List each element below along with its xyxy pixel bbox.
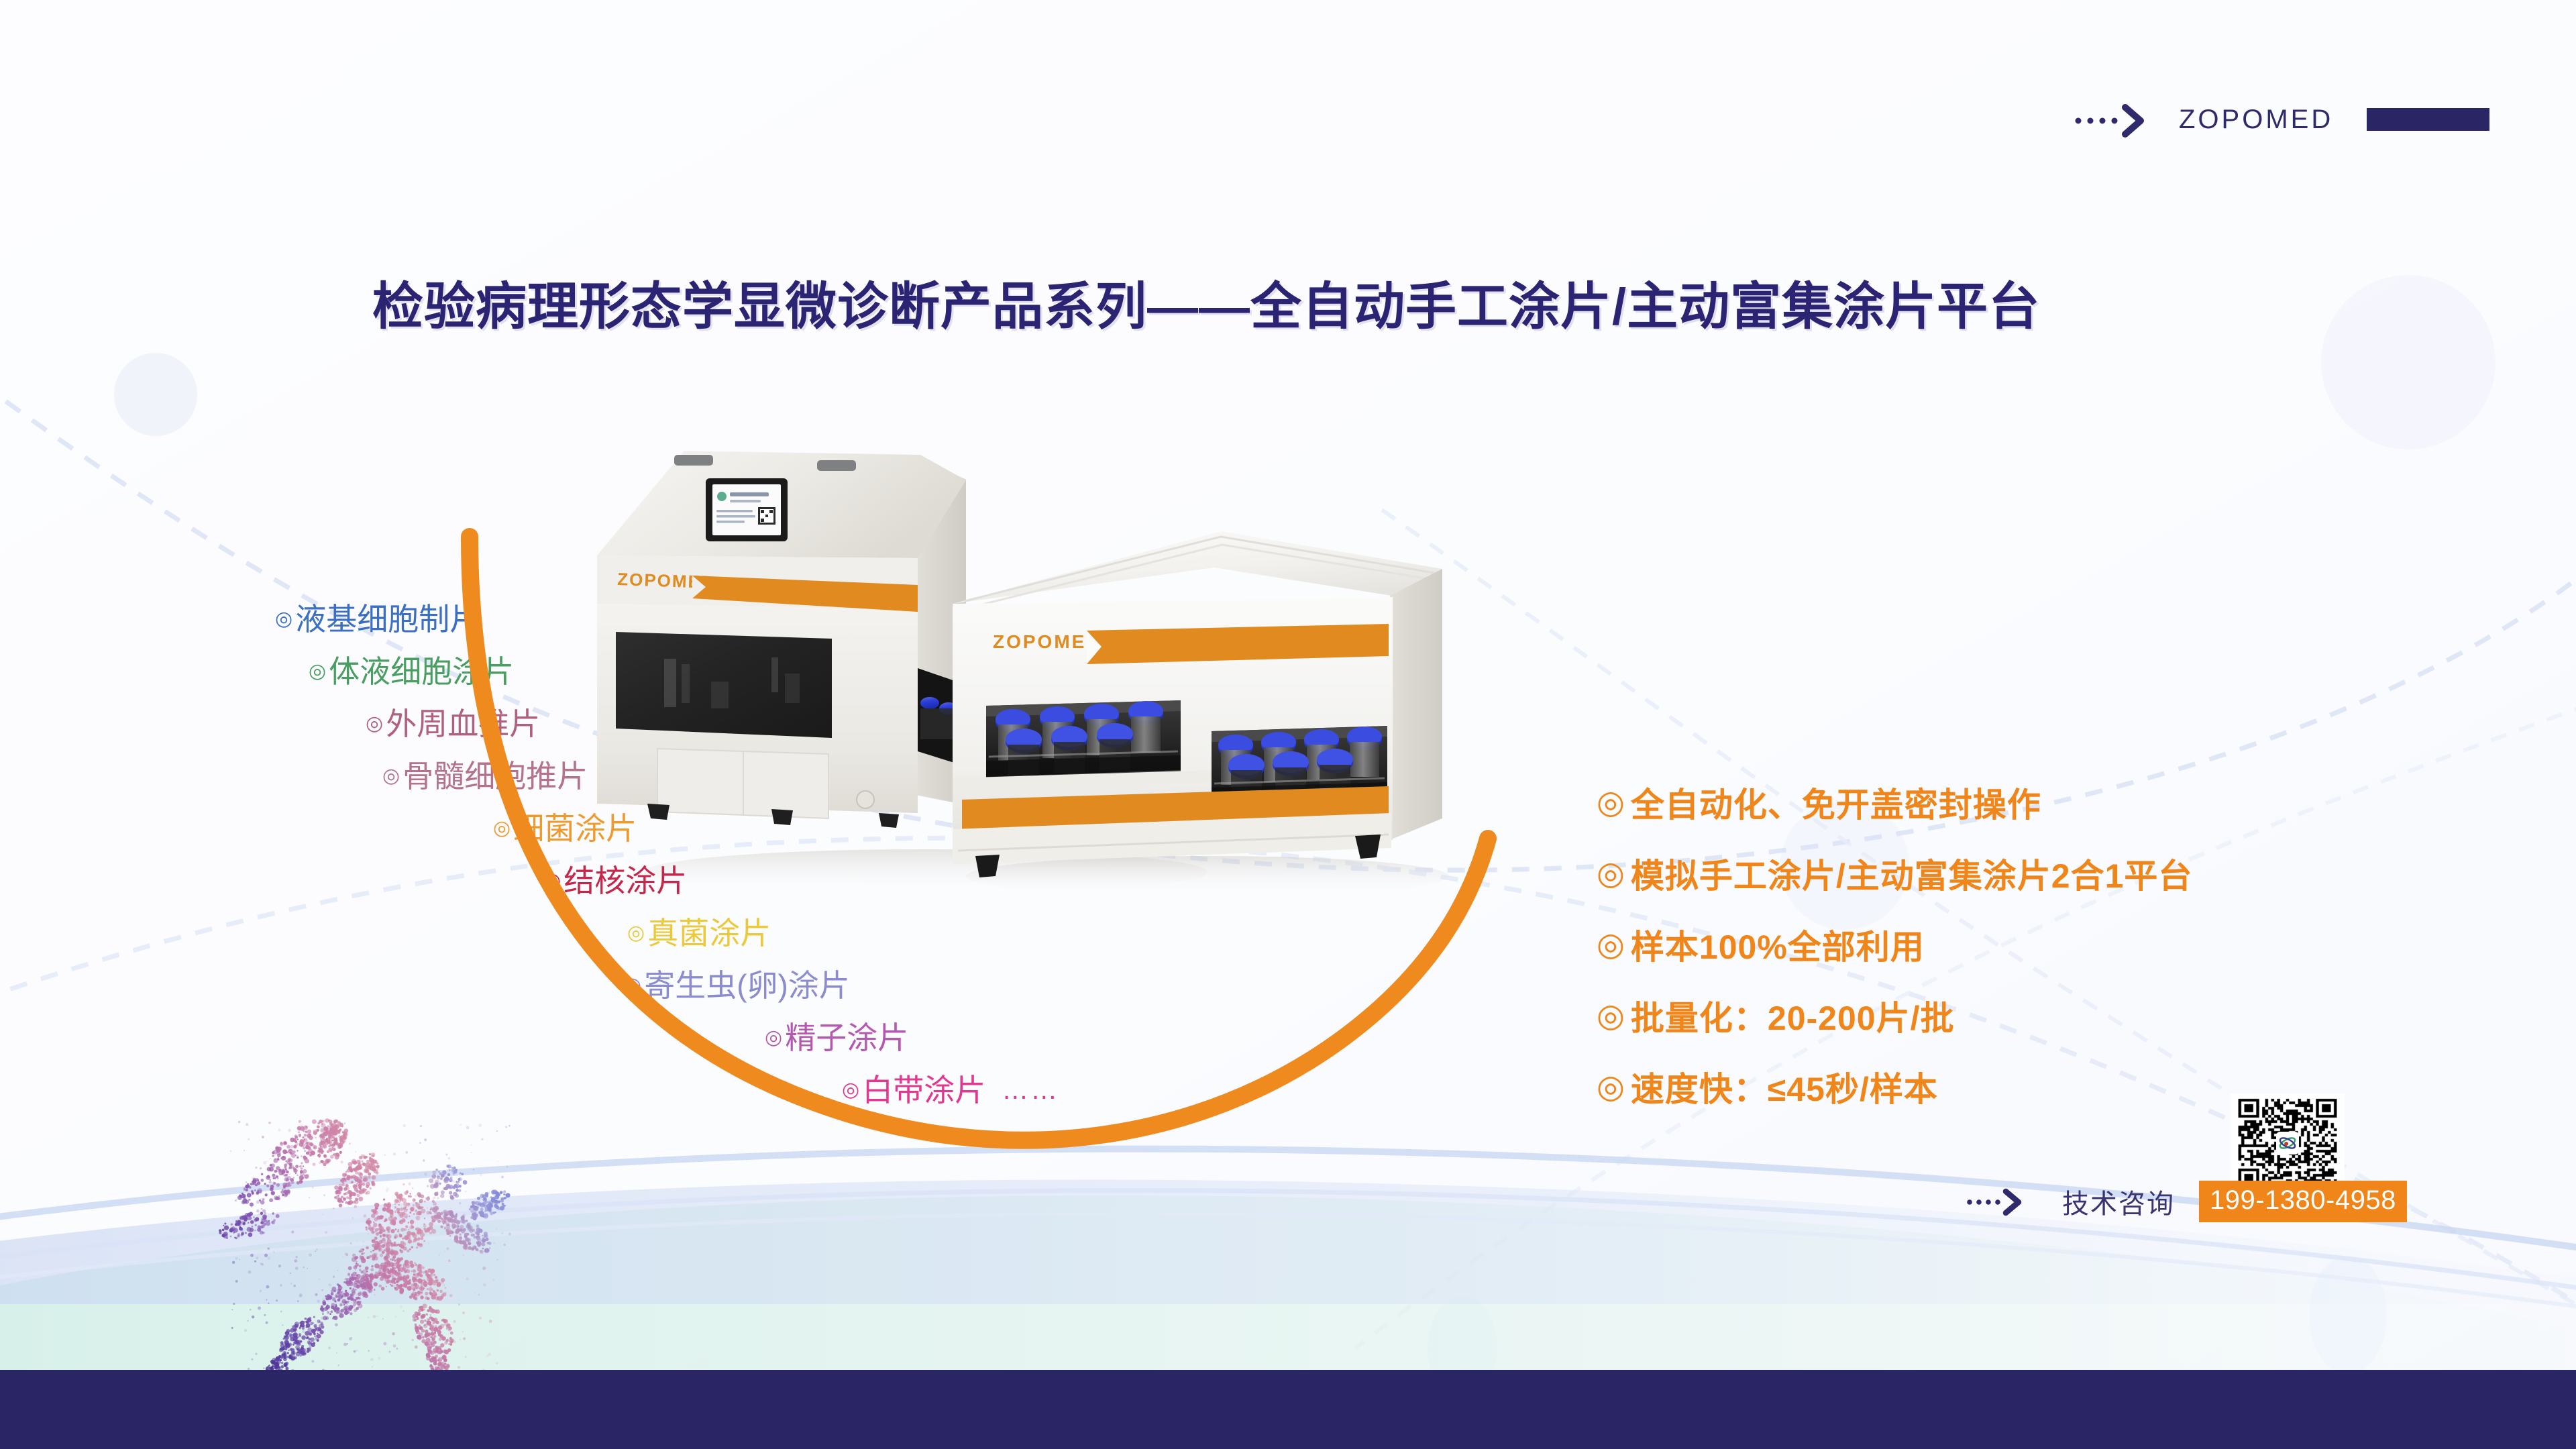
- orange-swoosh-curve: [0, 0, 2576, 1449]
